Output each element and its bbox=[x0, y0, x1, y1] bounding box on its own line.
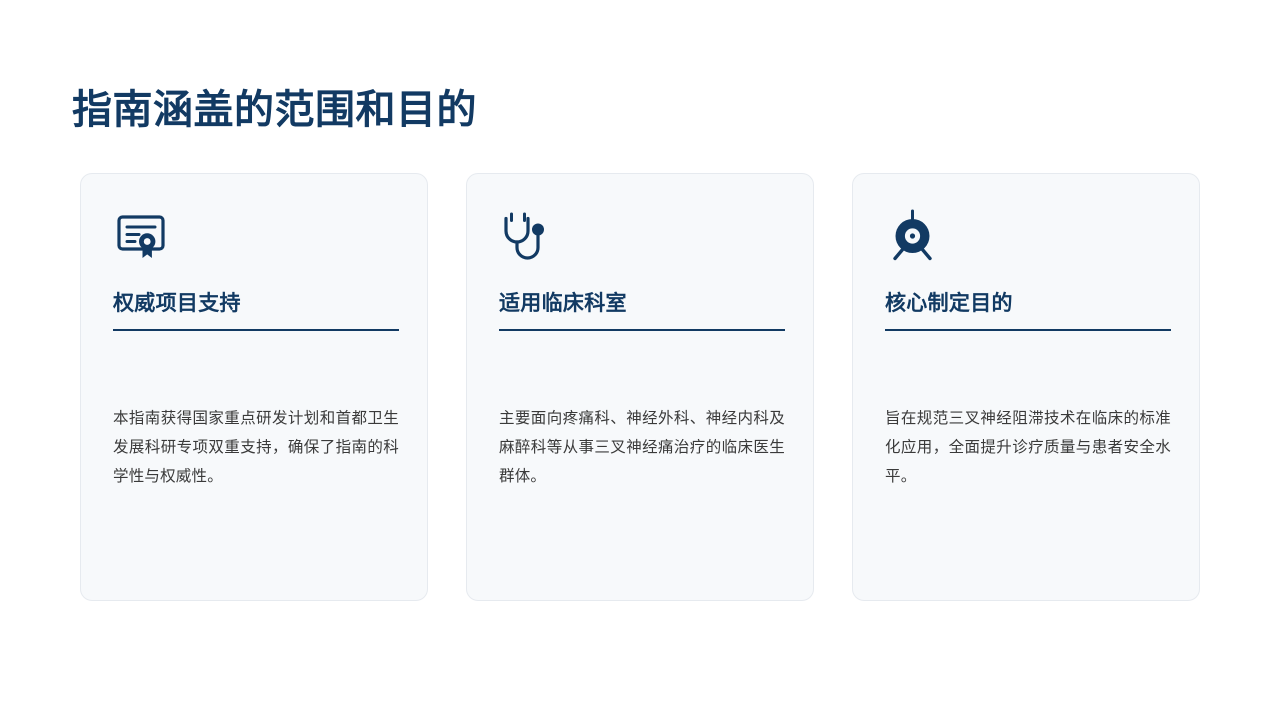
card-body-text: 本指南获得国家重点研发计划和首都卫生发展科研专项双重支持，确保了指南的科学性与权… bbox=[113, 405, 399, 491]
card-heading: 核心制定目的 bbox=[885, 290, 1171, 317]
card-authority-support[interactable]: 权威项目支持 本指南获得国家重点研发计划和首都卫生发展科研专项双重支持，确保了指… bbox=[80, 173, 428, 601]
card-heading: 权威项目支持 bbox=[113, 290, 399, 317]
card-row: 权威项目支持 本指南获得国家重点研发计划和首都卫生发展科研专项双重支持，确保了指… bbox=[80, 173, 1200, 601]
card-heading: 适用临床科室 bbox=[499, 290, 785, 317]
target-icon bbox=[885, 208, 941, 264]
heading-underline bbox=[499, 329, 785, 331]
heading-underline bbox=[113, 329, 399, 331]
page-title: 指南涵盖的范围和目的 bbox=[72, 85, 477, 135]
card-body-text: 主要面向疼痛科、神经外科、神经内科及麻醉科等从事三叉神经痛治疗的临床医生群体。 bbox=[499, 405, 785, 491]
card-clinical-departments[interactable]: 适用临床科室 主要面向疼痛科、神经外科、神经内科及麻醉科等从事三叉神经痛治疗的临… bbox=[466, 173, 814, 601]
heading-underline bbox=[885, 329, 1171, 331]
certificate-icon bbox=[113, 208, 169, 264]
slide-root: 指南涵盖的范围和目的 权威项目支持 本指南获得国家重点研发计划和首都卫生发展科研… bbox=[0, 0, 1280, 720]
stethoscope-icon bbox=[499, 208, 555, 264]
card-body-text: 旨在规范三叉神经阻滞技术在临床的标准化应用，全面提升诊疗质量与患者安全水平。 bbox=[885, 405, 1171, 491]
card-core-purpose[interactable]: 核心制定目的 旨在规范三叉神经阻滞技术在临床的标准化应用，全面提升诊疗质量与患者… bbox=[852, 173, 1200, 601]
